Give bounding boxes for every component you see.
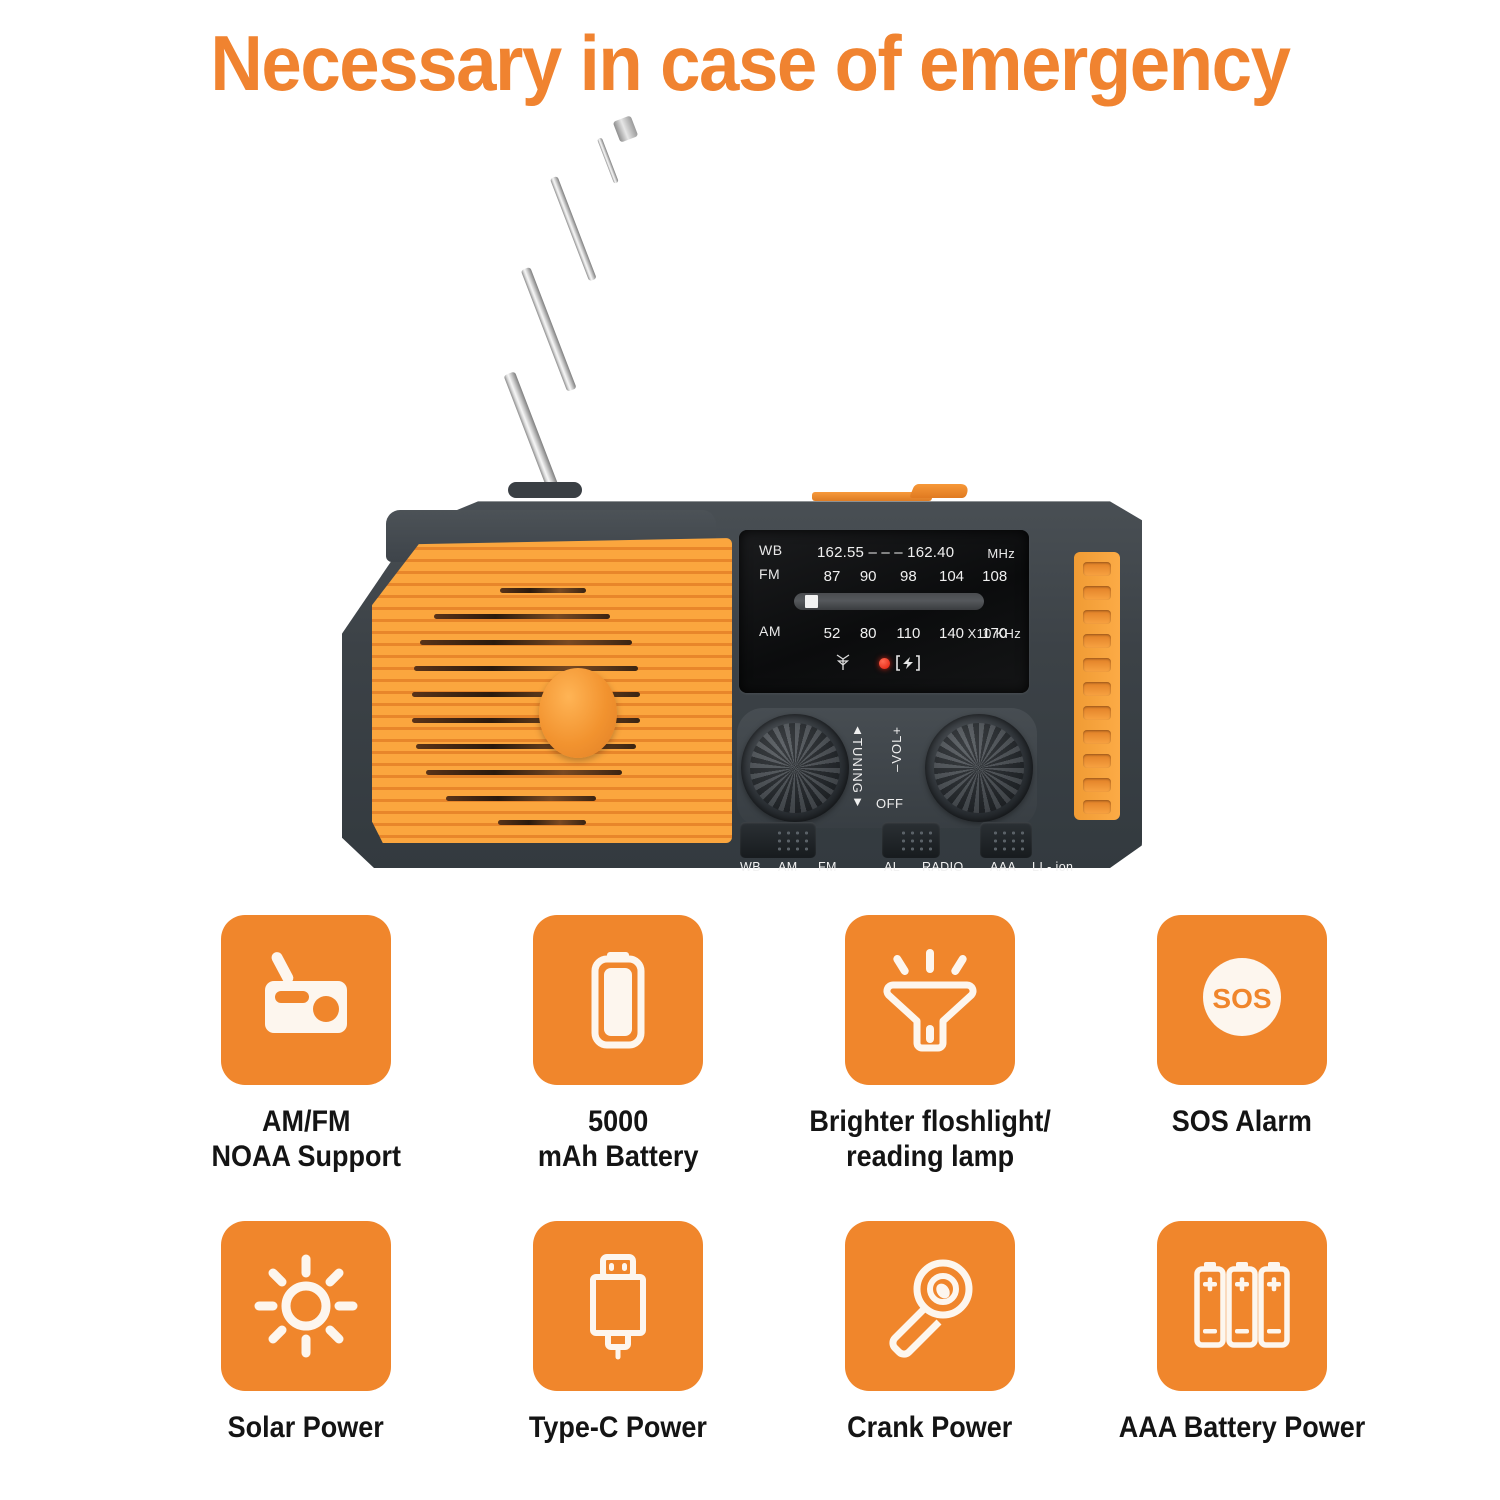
vent-slot bbox=[1083, 778, 1111, 792]
vent-slot bbox=[1083, 562, 1111, 576]
button-label-radio: RADIO bbox=[922, 860, 964, 874]
button-label-al: AL bbox=[884, 860, 900, 874]
feature-label: AAA Battery Power bbox=[1119, 1411, 1366, 1446]
button-label-fm: FM bbox=[818, 860, 837, 874]
vent-slot bbox=[1083, 658, 1111, 672]
button-label-wb: WB bbox=[740, 860, 761, 874]
am-tick: 140 bbox=[932, 625, 972, 642]
feature-type-c-power: Type-C Power bbox=[462, 1221, 774, 1446]
feature-label: SOS Alarm bbox=[1172, 1105, 1312, 1140]
unit-x10khz: X10 KHz bbox=[968, 626, 1021, 641]
fm-tick: 98 bbox=[889, 568, 927, 585]
tuning-slider-track[interactable] bbox=[794, 593, 984, 610]
antenna-segment bbox=[504, 371, 561, 495]
band-label-fm: FM bbox=[759, 566, 780, 582]
radio-body: WB 162.55 – – – 162.40 MHz FM 87 90 98 1… bbox=[342, 490, 1142, 880]
radio-icon bbox=[221, 915, 391, 1085]
tuning-knob[interactable] bbox=[741, 714, 849, 822]
button-texture bbox=[991, 829, 1025, 851]
button-texture bbox=[899, 829, 933, 851]
feature-row-1: AM/FM NOAA Support 5000 mAh Battery bbox=[150, 915, 1400, 1175]
hand-crank-handle bbox=[909, 484, 971, 498]
usb-type-c-icon bbox=[533, 1221, 703, 1391]
side-vent-panel bbox=[1074, 552, 1120, 820]
feature-row-2: Solar Power Type-C Power bbox=[150, 1221, 1400, 1446]
sun-icon bbox=[221, 1221, 391, 1391]
feature-sos-alarm: SOS SOS Alarm bbox=[1086, 915, 1398, 1175]
svg-text:SOS: SOS bbox=[1212, 983, 1271, 1014]
signal-antenna-icon bbox=[834, 652, 852, 672]
fm-tick: 90 bbox=[851, 568, 885, 585]
button-label-am: AM bbox=[778, 860, 798, 874]
charging-bolt-icon bbox=[895, 654, 921, 672]
am-tick: 80 bbox=[851, 625, 885, 642]
fm-tick: 108 bbox=[976, 568, 1014, 585]
volume-knob-label: –VOL+ bbox=[889, 726, 904, 772]
alarm-radio-button[interactable] bbox=[882, 822, 940, 858]
band-select-button[interactable] bbox=[740, 822, 816, 858]
tuning-knob-label: ▲TUNING▼ bbox=[850, 722, 865, 810]
vent-slot bbox=[1083, 634, 1111, 648]
vent-slot bbox=[1083, 610, 1111, 624]
feature-battery-capacity: 5000 mAh Battery bbox=[462, 915, 774, 1175]
wb-frequency-range: 162.55 – – – 162.40 bbox=[817, 544, 954, 561]
fm-scale: 87 90 98 104 108 bbox=[817, 568, 1014, 585]
power-source-button[interactable] bbox=[980, 822, 1032, 858]
vent-slot bbox=[1083, 800, 1111, 814]
button-labels: WB AM FM AL RADIO AAA LI - ion bbox=[732, 860, 1102, 878]
feature-label: Brighter floshlight/ reading lamp bbox=[809, 1105, 1050, 1175]
button-label-liion: LI - ion bbox=[1032, 860, 1073, 874]
antenna-segment bbox=[550, 176, 597, 282]
feature-label: Crank Power bbox=[847, 1411, 1012, 1446]
grille-slot bbox=[414, 666, 638, 671]
am-tick: 52 bbox=[817, 625, 847, 642]
grille-slot bbox=[498, 820, 586, 825]
grille-slot bbox=[426, 770, 622, 775]
fm-tick: 87 bbox=[817, 568, 847, 585]
grille-slot bbox=[500, 588, 586, 593]
flashlight-icon bbox=[845, 915, 1015, 1085]
band-label-am: AM bbox=[759, 623, 781, 639]
fm-tick: 104 bbox=[932, 568, 972, 585]
off-label: OFF bbox=[876, 796, 904, 811]
feature-grid: AM/FM NOAA Support 5000 mAh Battery bbox=[150, 915, 1400, 1445]
vent-slot bbox=[1083, 730, 1111, 744]
am-tick: 110 bbox=[889, 625, 927, 642]
feature-label: Type-C Power bbox=[529, 1411, 707, 1446]
feature-am-fm-noaa: AM/FM NOAA Support bbox=[150, 915, 462, 1175]
feature-flashlight: Brighter floshlight/ reading lamp bbox=[774, 915, 1086, 1175]
hand-crank-icon bbox=[845, 1221, 1015, 1391]
tuning-slider-indicator[interactable] bbox=[805, 595, 818, 608]
telescopic-antenna bbox=[330, 110, 1150, 510]
feature-label: AM/FM NOAA Support bbox=[211, 1105, 400, 1175]
sos-icon: SOS bbox=[1157, 915, 1327, 1085]
band-label-wb: WB bbox=[759, 542, 783, 558]
antenna-segment bbox=[521, 267, 577, 392]
page-title: Necessary in case of emergency bbox=[53, 24, 1448, 102]
feature-aaa-battery-power: AAA Battery Power bbox=[1086, 1221, 1398, 1446]
feature-solar-power: Solar Power bbox=[150, 1221, 462, 1446]
feature-crank-power: Crank Power bbox=[774, 1221, 1086, 1446]
tuning-display: WB 162.55 – – – 162.40 MHz FM 87 90 98 1… bbox=[739, 530, 1029, 693]
vent-slot bbox=[1083, 706, 1111, 720]
grille-slot bbox=[420, 640, 632, 645]
control-knob-bay: ▲TUNING▼ –VOL+ OFF bbox=[737, 708, 1037, 828]
button-label-aaa: AAA bbox=[990, 860, 1016, 874]
grille-slot bbox=[446, 796, 596, 801]
button-strip: WB AM FM AL RADIO AAA LI - ion bbox=[732, 822, 1102, 868]
vent-slot bbox=[1083, 586, 1111, 600]
antenna-segment bbox=[597, 137, 619, 184]
feature-label: 5000 mAh Battery bbox=[538, 1105, 699, 1175]
product-image: WB 162.55 – – – 162.40 MHz FM 87 90 98 1… bbox=[330, 110, 1150, 880]
antenna-tip bbox=[613, 115, 639, 142]
button-texture bbox=[775, 829, 809, 851]
feature-label: Solar Power bbox=[228, 1411, 384, 1446]
battery-icon bbox=[533, 915, 703, 1085]
vent-slot bbox=[1083, 754, 1111, 768]
grille-slot bbox=[434, 614, 610, 619]
speaker-center-disc bbox=[539, 668, 617, 758]
volume-knob[interactable] bbox=[925, 714, 1033, 822]
power-led-indicator bbox=[879, 658, 890, 669]
vent-slot bbox=[1083, 682, 1111, 696]
speaker-grille bbox=[372, 538, 732, 843]
aaa-batteries-icon bbox=[1157, 1221, 1327, 1391]
unit-mhz: MHz bbox=[987, 546, 1015, 561]
